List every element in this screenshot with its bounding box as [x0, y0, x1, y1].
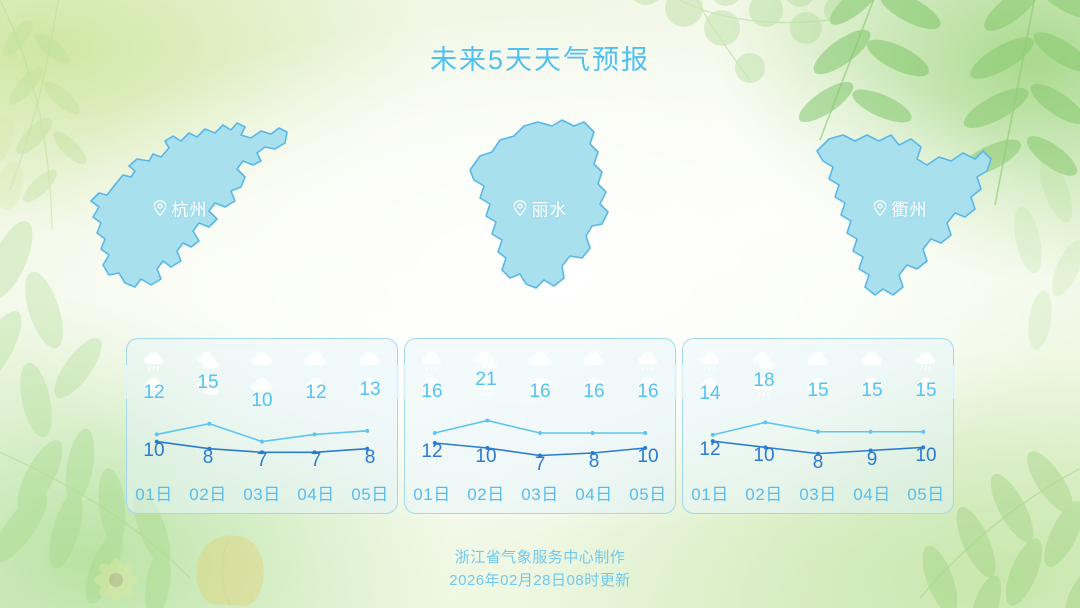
date-label[interactable]: 02日	[459, 480, 513, 505]
date-label[interactable]: 03日	[235, 480, 289, 505]
weather-forecast-infographic: 未来5天天气预报 杭州	[0, 0, 1080, 608]
map-cell-hangzhou[interactable]: 杭州	[0, 95, 360, 320]
date-label[interactable]: 03日	[513, 480, 567, 505]
map-label-quzhou: 衢州	[873, 195, 928, 220]
low-temp-labels: 12108910	[683, 447, 953, 469]
rain-cloud-icon	[417, 348, 447, 372]
cloud-icon	[247, 348, 277, 372]
rain-cloud-icon	[911, 348, 941, 372]
date-label[interactable]: 05日	[343, 480, 397, 505]
date-label[interactable]: 02日	[737, 480, 791, 505]
date-label[interactable]: 04日	[845, 480, 899, 505]
high-temp-value: 18	[737, 370, 791, 392]
cloud-icon	[525, 348, 555, 372]
low-temp-value: 9	[845, 449, 899, 471]
map-city-name: 丽水	[532, 195, 568, 220]
low-temp-value: 10	[737, 445, 791, 467]
cloud-icon	[857, 348, 887, 372]
high-temp-value: 15	[181, 372, 235, 394]
low-temp-value: 8	[343, 447, 397, 469]
low-temp-value: 10	[899, 445, 953, 467]
date-labels-row: 01日02日03日04日05日	[127, 480, 397, 505]
high-temp-value: 15	[845, 380, 899, 402]
rain-cloud-icon	[139, 348, 169, 372]
date-label[interactable]: 01日	[683, 480, 737, 505]
date-label[interactable]: 05日	[899, 480, 953, 505]
low-temp-value: 12	[683, 439, 737, 461]
footer-update-time: 2026年02月28日08时更新	[0, 569, 1080, 592]
footer-producer: 浙江省气象服务中心制作	[0, 546, 1080, 569]
high-temp-value: 15	[899, 380, 953, 402]
forecast-panel-hangzhou[interactable]: 121510121310877801日02日03日04日05日	[126, 338, 398, 514]
map-city-name: 衢州	[892, 195, 928, 220]
cloud-icon	[355, 348, 385, 372]
high-temp-value: 21	[459, 369, 513, 391]
high-temp-value: 12	[127, 382, 181, 404]
date-label[interactable]: 04日	[289, 480, 343, 505]
high-temp-value: 15	[791, 380, 845, 402]
rain-cloud-icon	[695, 348, 725, 372]
high-temp-value: 14	[683, 383, 737, 405]
high-temp-value: 16	[567, 381, 621, 403]
date-labels-row: 01日02日03日04日05日	[683, 480, 953, 505]
cloud-icon	[301, 348, 331, 372]
map-city-name: 杭州	[172, 195, 208, 220]
date-label[interactable]: 01日	[127, 480, 181, 505]
high-temp-labels: 1215101213	[127, 391, 397, 413]
high-temp-line	[157, 424, 367, 442]
low-temp-value: 10	[459, 446, 513, 468]
date-label[interactable]: 05日	[621, 480, 675, 505]
low-temp-value: 7	[289, 450, 343, 472]
forecast-panels-row: 121510121310877801日02日03日04日05日162116161…	[0, 338, 1080, 514]
map-cell-lishui[interactable]: 丽水	[360, 95, 720, 320]
location-pin-icon	[153, 199, 168, 216]
low-temp-labels: 12107810	[405, 447, 675, 469]
low-temp-value: 8	[791, 452, 845, 474]
forecast-panel-lishui[interactable]: 16211616161210781001日02日03日04日05日	[404, 338, 676, 514]
low-temp-value: 8	[181, 447, 235, 469]
forecast-panel-quzhou[interactable]: 14181515151210891001日02日03日04日05日	[682, 338, 954, 514]
page-title: 未来5天天气预报	[0, 38, 1080, 77]
high-temp-labels: 1418151515	[683, 391, 953, 413]
low-temp-labels: 108778	[127, 447, 397, 469]
maps-row: 杭州 丽水	[0, 95, 1080, 320]
date-label[interactable]: 04日	[567, 480, 621, 505]
overcast-cloud-icon	[193, 348, 223, 372]
low-temp-value: 7	[235, 450, 289, 472]
rain-cloud-icon	[633, 348, 663, 372]
low-temp-value: 10	[621, 446, 675, 468]
low-temp-value: 10	[127, 440, 181, 462]
high-temp-value: 16	[621, 381, 675, 403]
low-temp-value: 7	[513, 454, 567, 476]
high-temp-value: 10	[235, 390, 289, 412]
date-label[interactable]: 03日	[791, 480, 845, 505]
low-temp-value: 12	[405, 441, 459, 463]
footer: 浙江省气象服务中心制作 2026年02月28日08时更新	[0, 546, 1080, 593]
date-label[interactable]: 02日	[181, 480, 235, 505]
date-label[interactable]: 01日	[405, 480, 459, 505]
cloud-icon	[579, 348, 609, 372]
cloud-icon	[803, 348, 833, 372]
high-temp-value: 12	[289, 382, 343, 404]
high-temp-value: 16	[513, 381, 567, 403]
low-temp-value: 8	[567, 451, 621, 473]
high-temp-labels: 1621161616	[405, 391, 675, 413]
overcast-cloud-icon	[749, 348, 779, 372]
date-labels-row: 01日02日03日04日05日	[405, 480, 675, 505]
map-cell-quzhou[interactable]: 衢州	[720, 95, 1080, 320]
location-pin-icon	[513, 199, 528, 216]
high-temp-value: 16	[405, 381, 459, 403]
high-temp-value: 13	[343, 379, 397, 401]
map-label-lishui: 丽水	[513, 195, 568, 220]
map-label-hangzhou: 杭州	[153, 195, 208, 220]
location-pin-icon	[873, 199, 888, 216]
